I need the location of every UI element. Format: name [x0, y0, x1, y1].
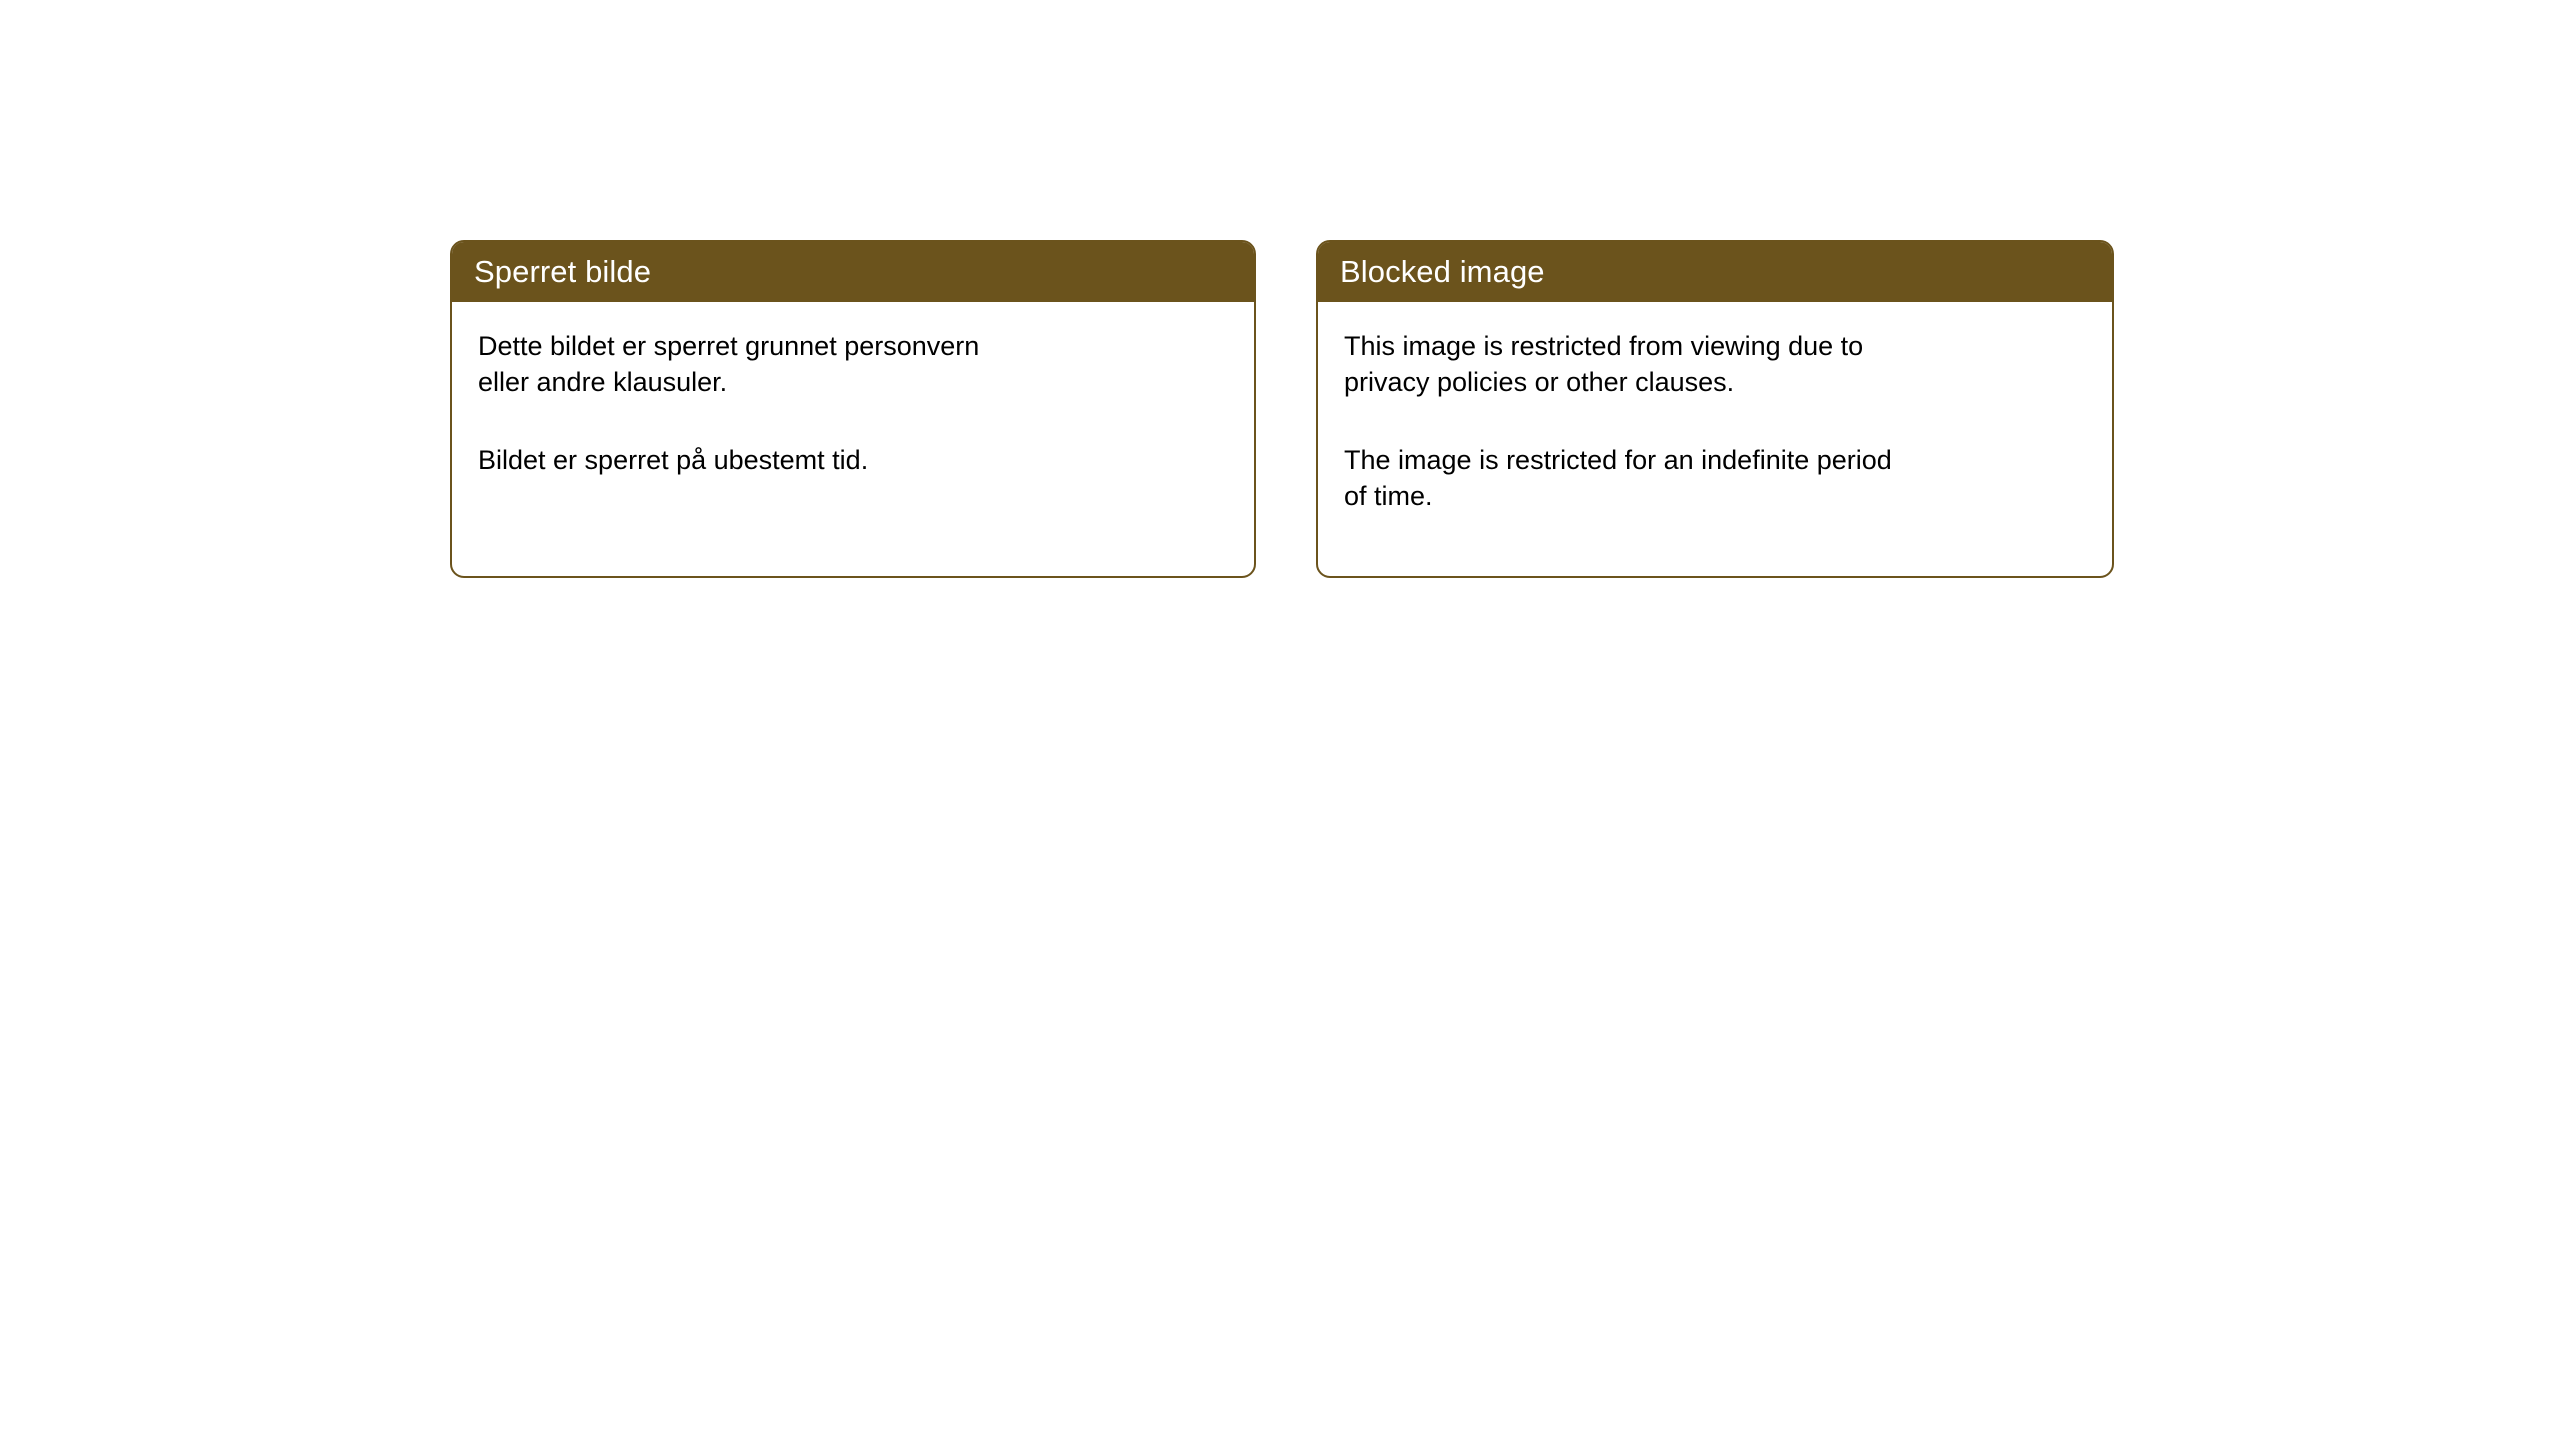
card-paragraph-privacy-english: This image is restricted from viewing du… — [1344, 328, 2086, 400]
card-body-english: This image is restricted from viewing du… — [1318, 302, 2112, 514]
card-title-norwegian: Sperret bilde — [474, 256, 651, 287]
card-paragraph-privacy-norwegian: Dette bildet er sperret grunnet personve… — [478, 328, 1228, 400]
card-body-norwegian: Dette bildet er sperret grunnet personve… — [452, 302, 1254, 478]
card-paragraph-duration-norwegian: Bildet er sperret på ubestemt tid. — [478, 442, 1228, 478]
blocked-image-card-norwegian: Sperret bilde Dette bildet er sperret gr… — [450, 240, 1256, 578]
card-paragraph-duration-english: The image is restricted for an indefinit… — [1344, 442, 2086, 514]
card-header-english: Blocked image — [1316, 240, 2114, 302]
blocked-image-card-english: Blocked image This image is restricted f… — [1316, 240, 2114, 578]
card-header-norwegian: Sperret bilde — [450, 240, 1256, 302]
page-root: Sperret bilde Dette bildet er sperret gr… — [0, 0, 2560, 1440]
card-title-english: Blocked image — [1340, 256, 1545, 287]
